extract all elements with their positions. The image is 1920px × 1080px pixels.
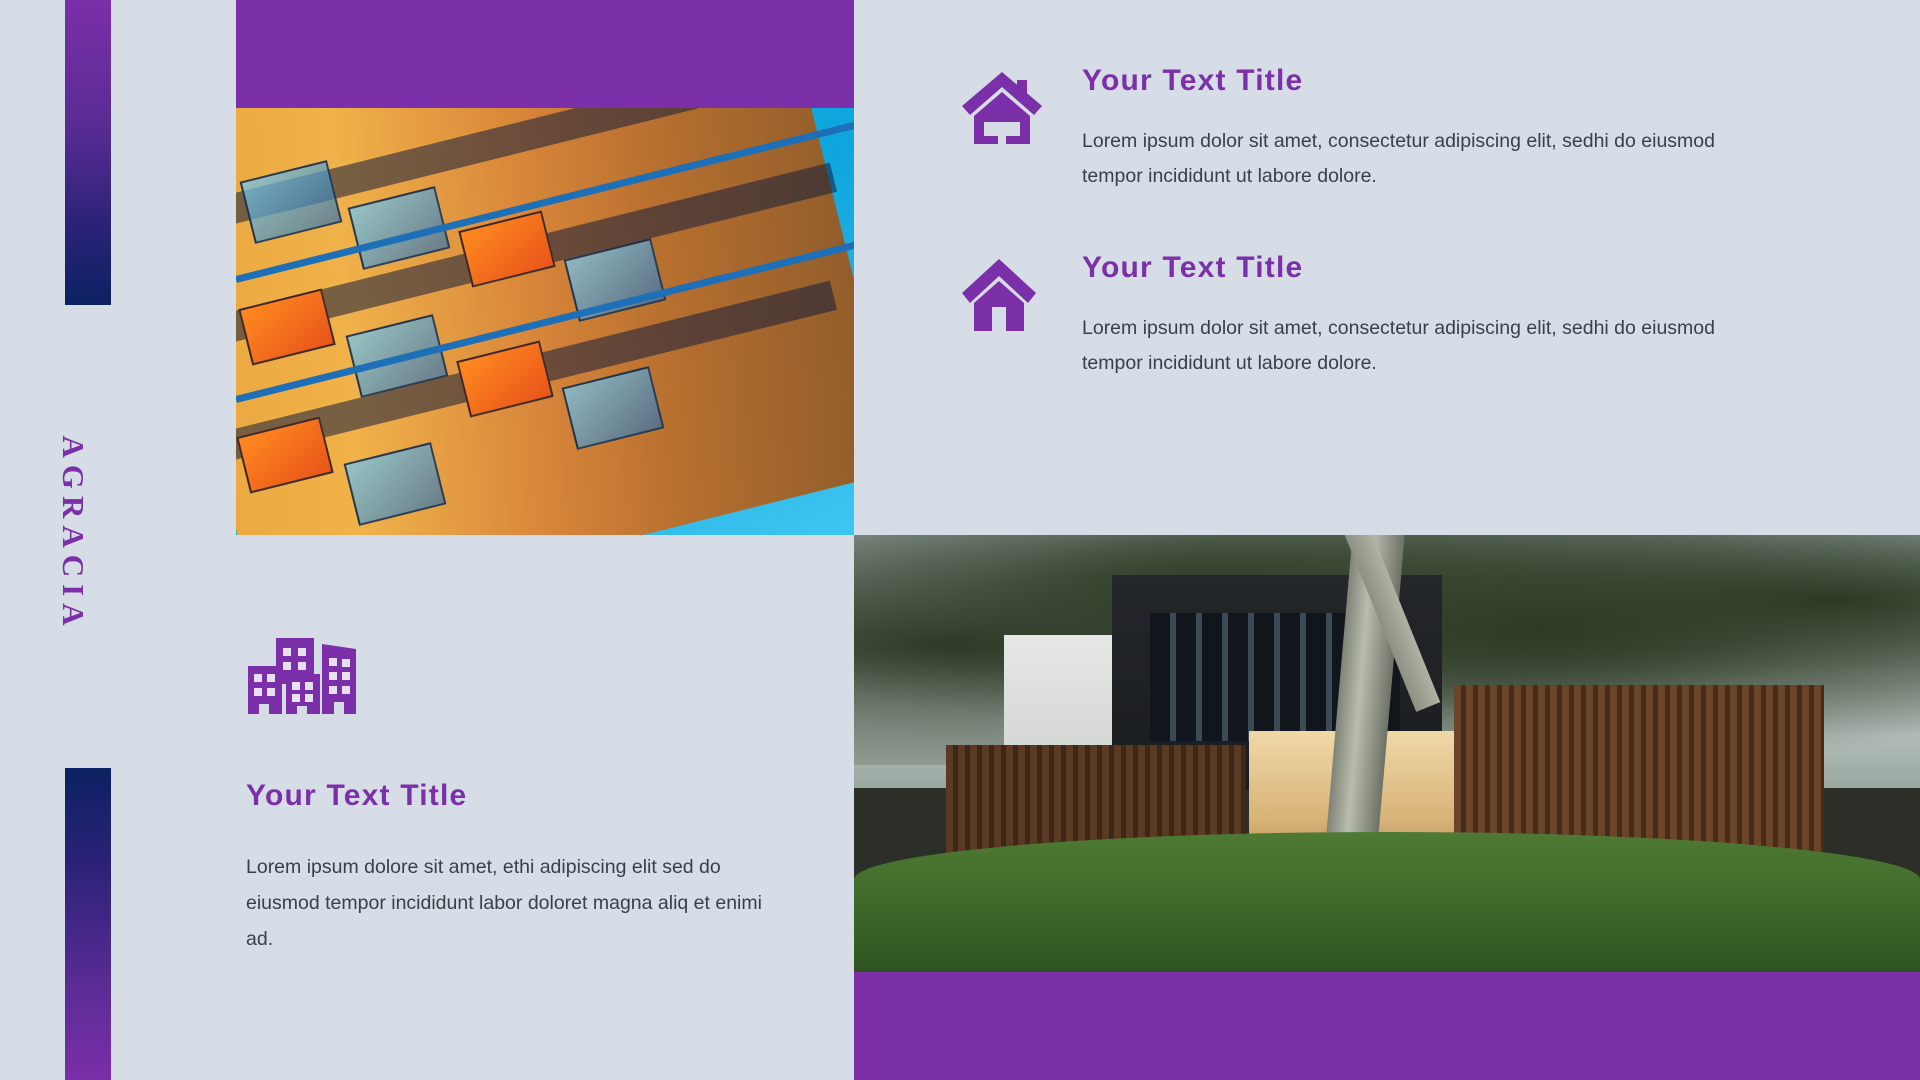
feature-text: Lorem ipsum dolor sit amet, consectetur …	[1082, 311, 1720, 380]
feature-item: Your Text Title Lorem ipsum dolor sit am…	[960, 251, 1720, 380]
feature-body: Your Text Title Lorem ipsum dolor sit am…	[1056, 64, 1720, 193]
feature-list: Your Text Title Lorem ipsum dolor sit am…	[960, 64, 1720, 439]
feature-item: Your Text Title Lorem ipsum dolor sit am…	[960, 64, 1720, 193]
gradient-bar-top	[65, 0, 111, 305]
purple-banner-bottom-right	[854, 972, 1920, 1080]
apartment-balconies-photo	[236, 108, 854, 535]
feature-body: Your Text Title Lorem ipsum dolor sit am…	[1056, 251, 1720, 380]
city-buildings-icon	[246, 636, 766, 719]
bottom-left-text: Lorem ipsum dolore sit amet, ethi adipis…	[246, 849, 766, 957]
photo-lawn	[854, 832, 1920, 972]
modern-house-photo	[854, 535, 1920, 972]
bottom-left-block: Your Text Title Lorem ipsum dolore sit a…	[246, 636, 766, 957]
home-wide-icon	[960, 64, 1056, 146]
home-peaked-icon	[960, 251, 1056, 333]
feature-title: Your Text Title	[1082, 64, 1720, 98]
feature-title: Your Text Title	[1082, 251, 1720, 285]
left-sidebar: AGRACIA	[0, 0, 236, 1080]
feature-text: Lorem ipsum dolor sit amet, consectetur …	[1082, 124, 1720, 193]
brand-wrapper: AGRACIA	[0, 390, 236, 690]
brand-name: AGRACIA	[55, 414, 91, 654]
purple-banner-top-left	[236, 0, 854, 108]
bottom-left-title: Your Text Title	[246, 779, 766, 813]
gradient-bar-bottom	[65, 768, 111, 1080]
